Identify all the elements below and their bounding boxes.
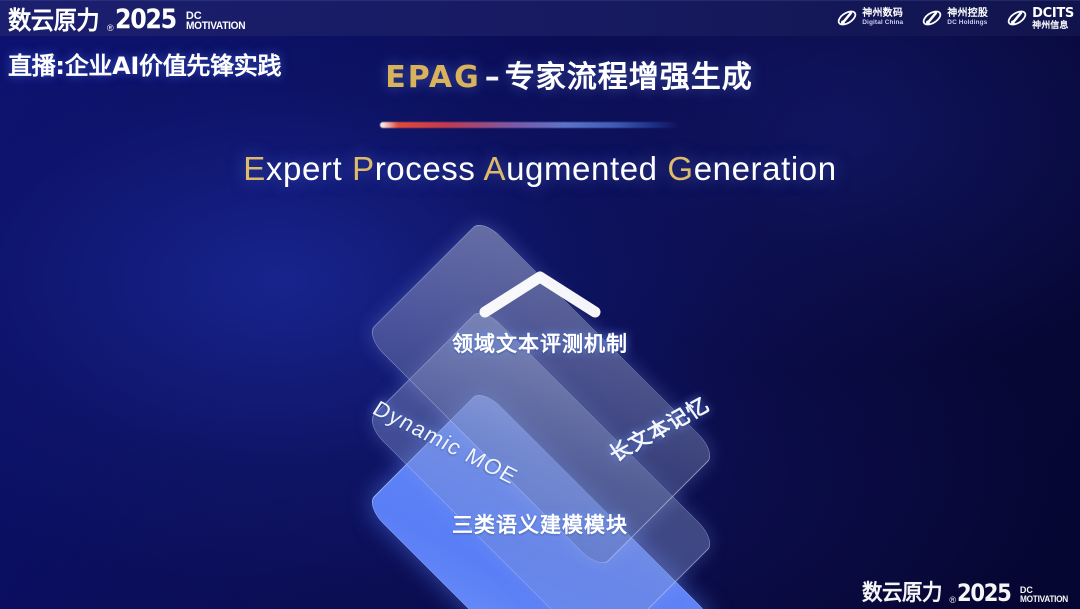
subtitle-cap-e: E [243, 150, 266, 187]
watermark-year: 2025 [957, 581, 1011, 605]
diagram-label-top: 领域文本评测机制 [290, 328, 790, 358]
swirl-logo-icon [836, 7, 858, 29]
brand-watermark: 数云原力 ® 2025 DC MOTIVATION [862, 581, 1072, 605]
partner-logo-row: 神州数码 Digital China 神州控股 DC Holdings [836, 4, 1074, 32]
logo-cn-label: DCITS [1032, 7, 1074, 20]
swirl-logo-icon [921, 7, 943, 29]
logo-dc-holdings: 神州控股 DC Holdings [921, 7, 988, 29]
subtitle-rest-augmented: ugmented [506, 150, 658, 187]
subtitle-rest-expert: xpert [266, 150, 342, 187]
diagram-label-bottom: 三类语义建模模块 [290, 509, 790, 539]
swirl-logo-icon [1006, 7, 1028, 29]
layered-stack-diagram: 领域文本评测机制 Dynamic MOE 长文本记忆 三类语义建模模块 [290, 228, 790, 568]
brand-dc-motivation: DC MOTIVATION [186, 11, 250, 33]
watermark-motivation-text: MOTIVATION [1020, 595, 1068, 604]
chevron-up-icon [479, 270, 601, 318]
title-dash: – [485, 60, 501, 95]
brand-logo-header: 数云原力 ® 2025 DC MOTIVATION [8, 3, 250, 33]
logo-dc-holdings-text: 神州控股 DC Holdings [947, 9, 988, 27]
logo-en-label: Digital China [862, 20, 903, 27]
brand-year: 2025 [115, 6, 176, 33]
logo-en-label: DC Holdings [947, 20, 988, 27]
logo-cn-label: 神州控股 [947, 9, 988, 19]
logo-dcits-text: DCITS 神州信息 [1032, 7, 1074, 30]
subtitle-cap-g: G [667, 150, 693, 187]
logo-digital-china-text: 神州数码 Digital China [862, 9, 903, 27]
title-acronym: EPAG [385, 60, 481, 95]
brand-registered-mark: ® [107, 23, 114, 33]
slide-canvas: 数云原力 ® 2025 DC MOTIVATION 神州数码 Digital C… [0, 0, 1080, 609]
watermark-dc-motivation: DC MOTIVATION [1020, 586, 1072, 605]
gradient-divider [380, 122, 680, 128]
subtitle-cap-a: A [483, 150, 506, 187]
brand-chinese-name: 数云原力 [8, 8, 99, 33]
logo-dcits: DCITS 神州信息 [1006, 7, 1074, 30]
watermark-chinese-name: 数云原力 [862, 583, 942, 605]
logo-en-label: 神州信息 [1032, 21, 1074, 30]
logo-cn-label: 神州数码 [862, 9, 903, 19]
title-chinese: 专家流程增强生成 [505, 60, 753, 95]
watermark-registered-mark: ® [949, 595, 956, 605]
subtitle-rest-process: rocess [375, 150, 476, 187]
subtitle-cap-p: P [352, 150, 375, 187]
page-title: EPAG–专家流程增强生成 [0, 52, 1080, 96]
page-subtitle: Expert Process Augmented Generation [0, 150, 1080, 188]
subtitle-rest-generation: eneration [694, 150, 837, 187]
logo-digital-china: 神州数码 Digital China [836, 7, 903, 29]
brand-motivation-text: MOTIVATION [186, 21, 245, 32]
